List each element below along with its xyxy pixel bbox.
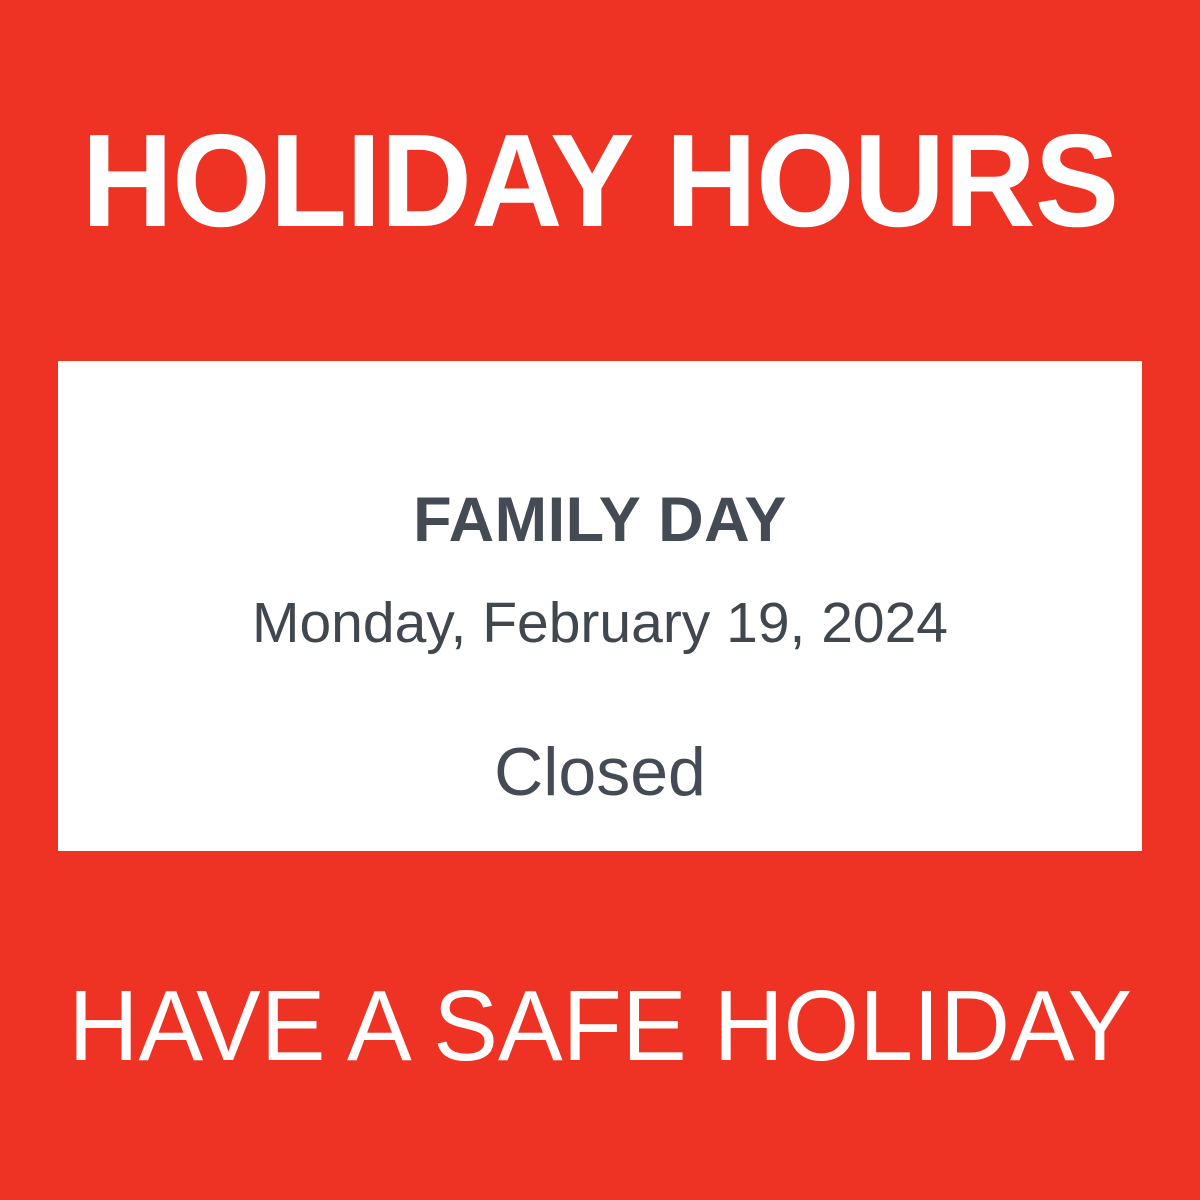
holiday-hours-sign: HOLIDAY HOURS FAMILY DAY Monday, Februar… bbox=[0, 0, 1200, 1200]
page-title: HOLIDAY HOURS bbox=[82, 115, 1119, 247]
notice-card: FAMILY DAY Monday, February 19, 2024 Clo… bbox=[58, 361, 1142, 851]
footer-message: HAVE A SAFE HOLIDAY bbox=[68, 976, 1132, 1076]
headline-banner: HOLIDAY HOURS bbox=[0, 0, 1200, 361]
footer-banner: HAVE A SAFE HOLIDAY bbox=[0, 851, 1200, 1200]
status-badge: Closed bbox=[58, 652, 1142, 806]
event-date: Monday, February 19, 2024 bbox=[58, 552, 1142, 652]
notice-card-content: FAMILY DAY Monday, February 19, 2024 Clo… bbox=[58, 361, 1142, 806]
event-name: FAMILY DAY bbox=[58, 361, 1142, 552]
